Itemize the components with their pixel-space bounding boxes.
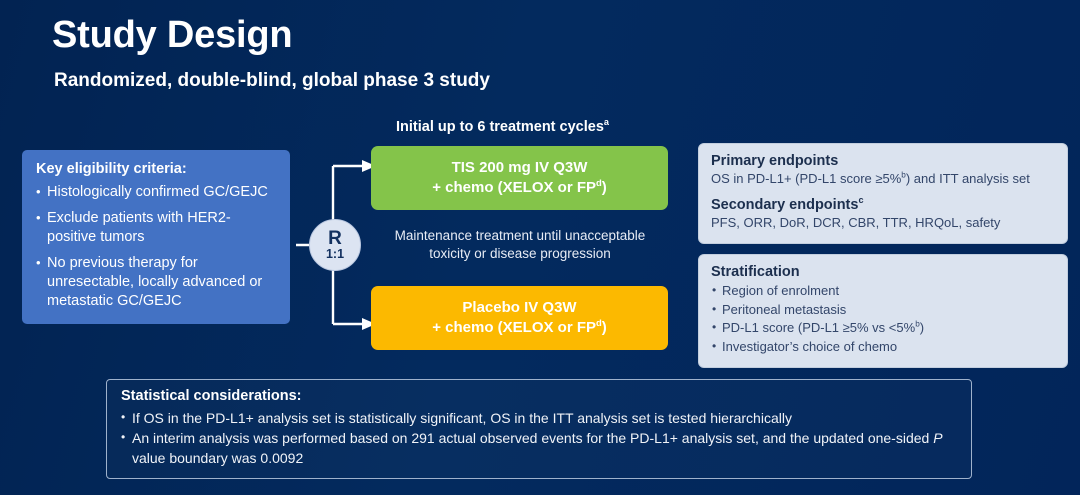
endpoints-panel: Primary endpoints OS in PD-L1+ (PD-L1 sc…	[698, 143, 1068, 244]
secondary-endpoints-heading: Secondary endpointsc	[711, 197, 1055, 213]
page-subtitle: Randomized, double-blind, global phase 3…	[54, 70, 490, 92]
list-item: PD-L1 score (PD-L1 ≥5% vs <5%b)	[711, 319, 1055, 338]
maintenance-line-2: toxicity or disease progression	[376, 245, 664, 263]
footnote-marker-c: c	[858, 195, 863, 205]
list-item: Exclude patients with HER2-positive tumo…	[36, 209, 278, 247]
list-item: An interim analysis was performed based …	[121, 428, 957, 468]
primary-endpoints-heading: Primary endpoints	[711, 153, 1055, 169]
statistics-p-symbol: P	[933, 430, 942, 446]
statistics-heading: Statistical considerations:	[121, 388, 957, 404]
list-item: Histologically confirmed GC/GEJC	[36, 183, 278, 202]
stratification-heading: Stratification	[711, 264, 1055, 280]
secondary-endpoints-text: PFS, ORR, DoR, DCR, CBR, TTR, HRQoL, saf…	[711, 214, 1055, 232]
primary-endpoints-text-pre: OS in PD-L1+ (PD-L1 score ≥5%	[711, 171, 901, 186]
placebo-arm-line2: + chemo (XELOX or FPd)	[379, 318, 660, 338]
treatment-arm-line2: + chemo (XELOX or FPd)	[379, 178, 660, 198]
placebo-arm-line1: Placebo IV Q3W	[379, 298, 660, 318]
randomization-circle: R 1:1	[309, 219, 361, 271]
secondary-endpoints-heading-text: Secondary endpoints	[711, 197, 858, 213]
list-item: If OS in the PD-L1+ analysis set is stat…	[121, 408, 957, 428]
list-item: Region of enrolment	[711, 282, 1055, 301]
stratification-panel: Stratification Region of enrolment Perit…	[698, 254, 1068, 368]
primary-endpoints-text-post: ) and ITT analysis set	[906, 171, 1030, 186]
cycles-caption: Initial up to 6 treatment cyclesa	[396, 119, 609, 135]
placebo-arm-box: Placebo IV Q3W + chemo (XELOX or FPd)	[371, 286, 668, 350]
treatment-arm-chemo-close: )	[602, 179, 607, 196]
statistics-item2-pre: An interim analysis was performed based …	[132, 430, 933, 446]
slide-canvas: Study Design Randomized, double-blind, g…	[0, 0, 1080, 495]
stratification-list: Region of enrolment Peritoneal metastasi…	[711, 282, 1055, 356]
list-item: Peritoneal metastasis	[711, 301, 1055, 320]
primary-endpoints-text: OS in PD-L1+ (PD-L1 score ≥5%b) and ITT …	[711, 170, 1055, 188]
page-title: Study Design	[52, 14, 292, 57]
list-item: No previous therapy for unresectable, lo…	[36, 254, 278, 311]
randomization-label: R	[328, 230, 342, 248]
placebo-arm-chemo-close: )	[602, 319, 607, 336]
list-item: Investigator’s choice of chemo	[711, 338, 1055, 357]
eligibility-list: Histologically confirmed GC/GEJC Exclude…	[36, 183, 278, 311]
maintenance-note: Maintenance treatment until unacceptable…	[376, 227, 664, 263]
eligibility-heading: Key eligibility criteria:	[36, 161, 278, 177]
placebo-arm-chemo-text: + chemo (XELOX or FP	[432, 319, 596, 336]
statistics-item2-post: value boundary was 0.0092	[132, 450, 303, 466]
randomization-ratio: 1:1	[326, 248, 344, 261]
maintenance-line-1: Maintenance treatment until unacceptable	[376, 227, 664, 245]
statistical-considerations-box: Statistical considerations: If OS in the…	[106, 379, 972, 479]
stratification-pdl1-post: )	[920, 320, 924, 335]
statistics-list: If OS in the PD-L1+ analysis set is stat…	[121, 408, 957, 468]
eligibility-criteria-box: Key eligibility criteria: Histologically…	[22, 150, 290, 324]
treatment-arm-chemo-text: + chemo (XELOX or FP	[432, 179, 596, 196]
footnote-marker-a: a	[604, 117, 609, 127]
cycles-caption-text: Initial up to 6 treatment cycles	[396, 119, 604, 135]
treatment-arm-box: TIS 200 mg IV Q3W + chemo (XELOX or FPd)	[371, 146, 668, 210]
treatment-arm-line1: TIS 200 mg IV Q3W	[379, 158, 660, 178]
stratification-pdl1-pre: PD-L1 score (PD-L1 ≥5% vs <5%	[722, 320, 915, 335]
